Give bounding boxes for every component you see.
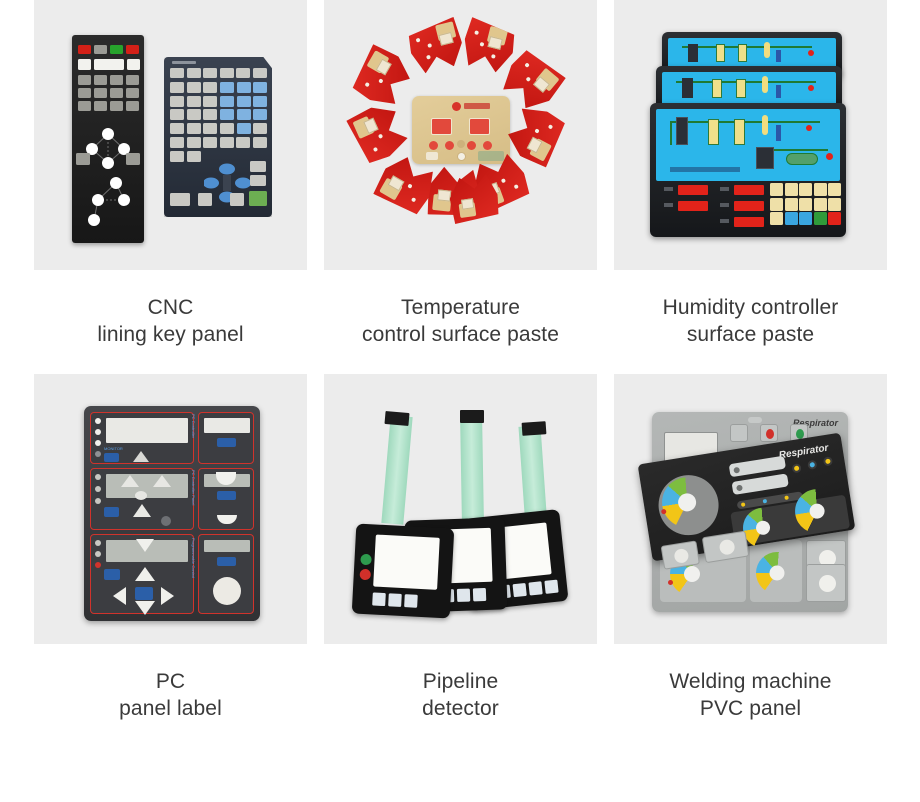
center-gold-panel [412, 96, 510, 164]
caption-line-1: CNC [148, 296, 194, 319]
pc-membrane-panel: MONITOR [84, 406, 260, 621]
indicator-led [791, 463, 801, 473]
product-card-temperature-control-surface-paste[interactable]: Temperature control surface paste [324, 0, 597, 374]
caption-line-1: Welding machine [669, 670, 831, 693]
caption-line-2: PVC panel [614, 695, 887, 722]
cnc-axis-diagram-upper [72, 123, 144, 173]
product-card-pc-panel-label[interactable]: MONITOR [34, 374, 307, 748]
product-caption: PC panel label [34, 644, 307, 748]
pc-section-2-right [198, 468, 254, 530]
product-caption: Pipeline detector [324, 644, 597, 748]
red-petal-overlay [345, 99, 412, 167]
product-card-cnc-lining-key-panel[interactable]: CNC lining key panel [34, 0, 307, 374]
caption-line-2: surface paste [614, 321, 887, 348]
caption-line-2: lining key panel [34, 321, 307, 348]
caption-line-1: PC [156, 670, 185, 693]
red-petal-overlay [405, 16, 467, 75]
caption-line-2: detector [324, 695, 597, 722]
indicator-led [823, 456, 833, 466]
product-image-pc-panel-label[interactable]: MONITOR [34, 374, 307, 644]
product-caption: Welding machine PVC panel [614, 644, 887, 748]
product-card-pipeline-detector[interactable]: Pipeline detector [324, 374, 597, 748]
product-image-cnc-lining-key-panel[interactable] [34, 0, 307, 270]
dial-gauge [756, 552, 798, 594]
pc-vertical-label: PC Controller [191, 414, 196, 438]
product-caption: Humidity controller surface paste [614, 270, 887, 374]
red-petal-overlay [502, 100, 571, 169]
product-image-humidity-controller-surface-paste[interactable] [614, 0, 887, 270]
flex-tail [460, 414, 484, 524]
caption-line-1: Pipeline [423, 670, 499, 693]
product-caption: Temperature control surface paste [324, 270, 597, 374]
pc-section-1: MONITOR [90, 412, 194, 464]
pc-section-3-right [198, 534, 254, 614]
cnc-white-key-row [78, 59, 140, 70]
arrow-right-icon [161, 587, 174, 605]
humidity-panel-front [650, 103, 846, 237]
cnc-top-key-row [78, 45, 139, 54]
caption-line-2: panel label [34, 695, 307, 722]
product-caption: CNC lining key panel [34, 270, 307, 374]
pc-section-3 [90, 534, 194, 614]
cnc-keypad-numeric-block [220, 82, 267, 134]
caption-line-1: Humidity controller [663, 296, 839, 319]
green-button [360, 554, 372, 566]
pc-vertical-label: Programmable Control [191, 538, 196, 578]
arrow-up-icon [135, 567, 155, 581]
product-grid: CNC lining key panel [0, 0, 920, 748]
pc-vertical-label: PC Controller Panel [191, 470, 196, 505]
product-card-welding-machine-pvc-panel[interactable]: Respirator [614, 374, 887, 748]
indicator-led [807, 460, 817, 470]
product-image-welding-machine-pvc-panel[interactable]: Respirator [614, 374, 887, 644]
caption-line-1: Temperature [401, 296, 520, 319]
product-card-humidity-controller-surface-paste[interactable]: Humidity controller surface paste [614, 0, 887, 374]
cnc-keypad-symbol-row [170, 137, 267, 162]
flex-tail [381, 415, 412, 525]
cnc-keypad-fn-row [170, 68, 267, 78]
tall-cnc-panel [72, 35, 144, 243]
caption-line-2: control surface paste [324, 321, 597, 348]
product-image-pipeline-detector[interactable] [324, 374, 597, 644]
product-image-temperature-control-surface-paste[interactable] [324, 0, 597, 270]
red-petal-overlay [347, 42, 416, 112]
cnc-keypad [164, 57, 272, 217]
arrow-down-icon [135, 601, 155, 615]
cnc-gray-key-block [78, 75, 139, 111]
cnc-keypad-alpha-block [170, 82, 217, 134]
humidity-keypad [770, 183, 841, 225]
pc-section-2 [90, 468, 194, 530]
arrow-left-icon [113, 587, 126, 605]
red-petal-overlay [459, 15, 520, 76]
membrane-switch [352, 523, 455, 618]
red-button [359, 569, 371, 581]
cnc-axis-diagram-lower [72, 175, 144, 233]
pc-section-1-right [198, 412, 254, 464]
respirator-label-black: Respirator [778, 443, 829, 462]
